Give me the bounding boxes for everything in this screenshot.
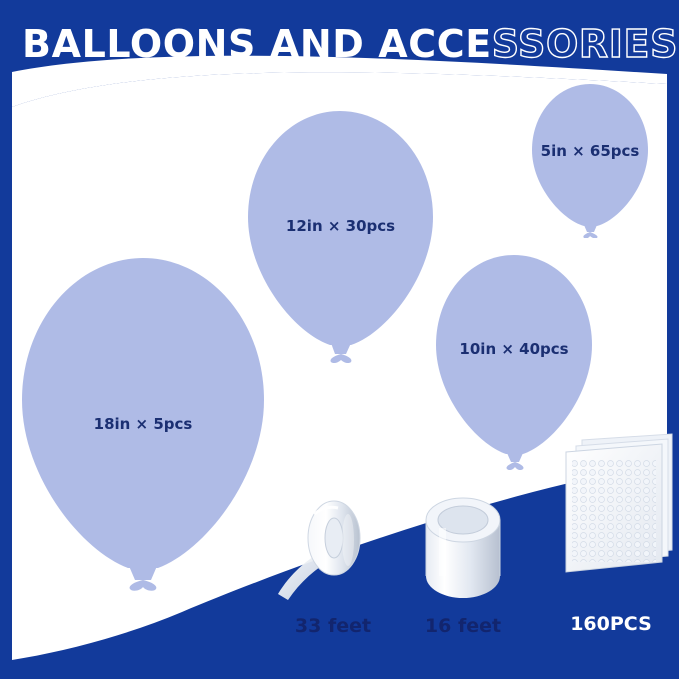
glue-dot-sheet [552,432,677,592]
ribbon-roll [268,496,398,606]
glue-dot-sheet-caption: 160PCS [546,613,676,635]
ribbon-roll-shape [268,496,398,606]
ribbon-roll-caption: 33 feet [268,615,398,637]
balloon-18in-label: 18in × 5pcs [8,415,278,433]
balloon-10in-label: 10in × 40pcs [428,340,600,358]
tape-roll-shape [404,494,522,606]
tape-roll [404,494,522,606]
glue-dot-sheet-shape [552,432,677,592]
balloon-12in-shape [238,105,443,365]
title-solid: BALLOONS AND ACCE [22,22,492,66]
page-title: BALLOONS AND ACCESSORIES [22,22,672,66]
product-image: BALLOONS AND ACCESSORIES 18in × 5pcs 12i… [0,0,679,679]
glue-dot-unit: PCS [610,613,652,635]
tape-roll-caption: 16 feet [404,615,522,637]
balloon-5in-label: 5in × 65pcs [527,142,653,160]
title-outline: SSORIES [492,22,678,66]
glue-dot-count: 160 [570,613,610,635]
balloon-12in-label: 12in × 30pcs [238,217,443,235]
balloon-5in: 5in × 65pcs [527,80,653,238]
balloon-12in: 12in × 30pcs [238,105,443,365]
